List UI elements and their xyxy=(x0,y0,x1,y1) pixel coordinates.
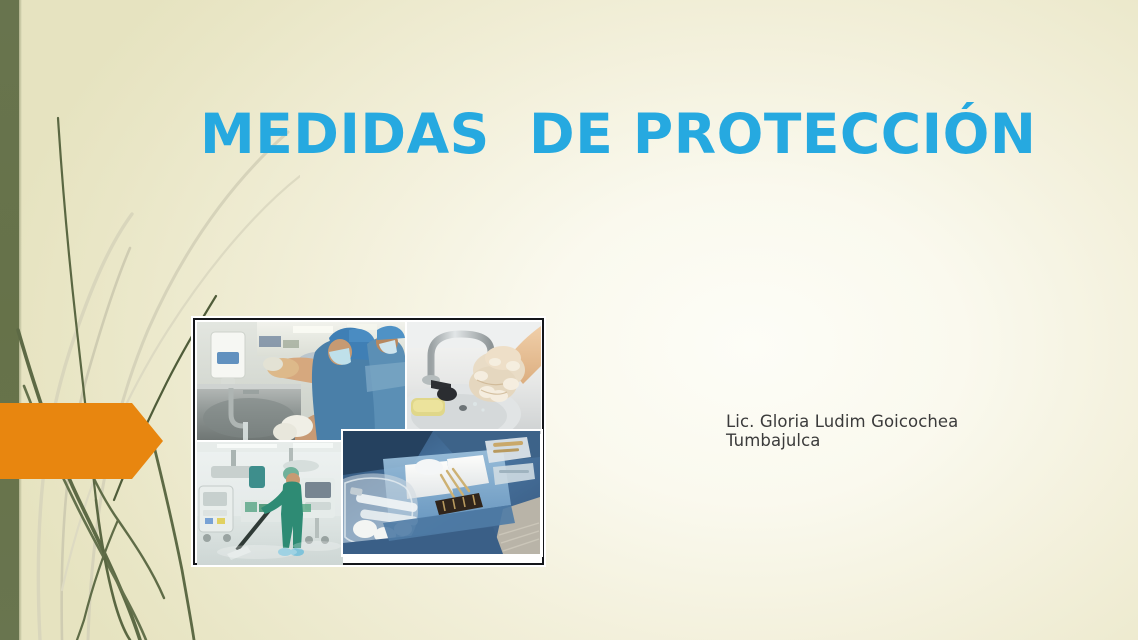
orange-arrow-accent xyxy=(0,401,165,481)
olive-side-bar xyxy=(0,0,19,640)
surgical-hygiene-photo-collage xyxy=(191,316,546,567)
photo-operating-room-cleaning xyxy=(197,442,343,565)
photo-surgical-hand-scrub xyxy=(197,322,405,440)
presentation-slide: MEDIDAS DE PROTECCIÓN Lic. Gloria Ludim … xyxy=(0,0,1138,640)
photo-handwashing-faucet xyxy=(407,322,541,434)
author-name: Lic. Gloria Ludim Goicochea Tumbajulca xyxy=(726,412,1026,451)
photo-sterile-surgical-kit xyxy=(341,429,543,557)
olive-side-bar-shadow xyxy=(19,0,22,640)
page-title: MEDIDAS DE PROTECCIÓN xyxy=(200,104,960,166)
